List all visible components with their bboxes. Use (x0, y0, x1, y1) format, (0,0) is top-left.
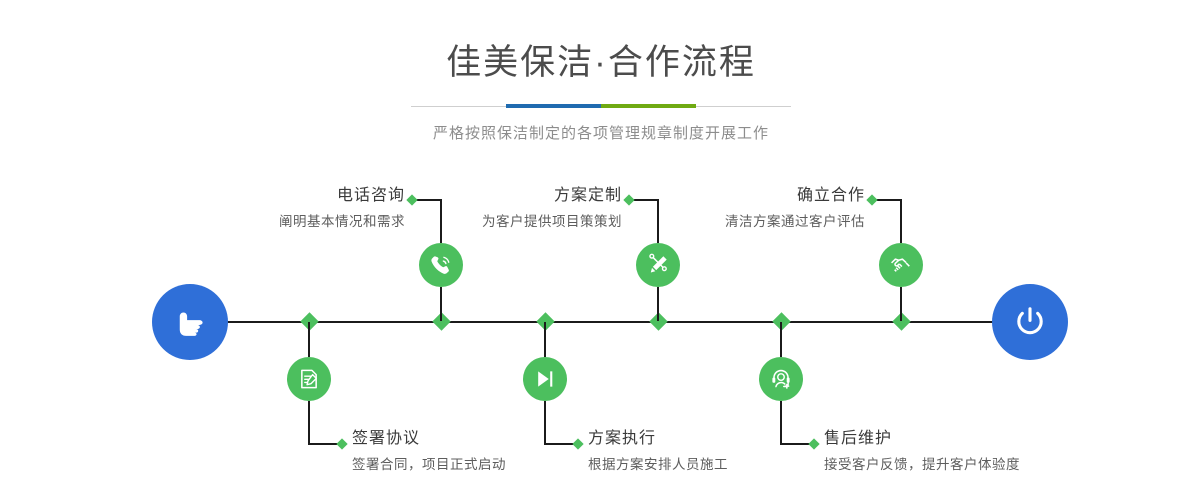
power-icon (1008, 300, 1052, 344)
timeline-end-badge (992, 284, 1068, 360)
connector-vline-4b (544, 401, 546, 445)
step-desc-2: 签署合同，项目正式启动 (352, 447, 602, 472)
connector-hline-3 (632, 199, 658, 201)
step-desc-4: 根据方案安排人员施工 (588, 447, 838, 472)
connector-tip-3 (623, 194, 634, 205)
handshake-icon (888, 252, 914, 278)
connector-hline-5 (875, 199, 901, 201)
divider-green-segment (601, 104, 696, 108)
connector-tip-2 (336, 438, 347, 449)
divider-blue-segment (506, 104, 601, 108)
step-node-4[interactable] (523, 357, 567, 401)
connector-vline-1 (440, 199, 442, 243)
connector-vline-6 (780, 322, 782, 357)
timeline-start-badge (152, 284, 228, 360)
headset-support-icon (768, 366, 794, 392)
step-title-6: 售后维护 (824, 431, 1084, 447)
header: 佳美保洁·合作流程 严格按照保洁制定的各项管理规章制度开展工作 (0, 0, 1202, 143)
connector-tip-5 (866, 194, 877, 205)
connector-vline-2 (308, 322, 310, 357)
step-desc-3: 为客户提供项目策策划 (450, 204, 622, 229)
step-desc-1: 阐明基本情况和需求 (240, 204, 405, 229)
step-node-2[interactable] (287, 357, 331, 401)
pointing-hand-icon (169, 301, 211, 343)
step-title-5: 确立合作 (693, 188, 865, 204)
step-title-3: 方案定制 (450, 188, 622, 204)
phone-call-icon (428, 252, 454, 278)
title-divider (411, 104, 791, 109)
step-node-3[interactable] (636, 243, 680, 287)
connector-hline-1 (415, 199, 441, 201)
connector-vline-5b (900, 287, 902, 321)
step-desc-5: 清洁方案通过客户评估 (693, 204, 865, 229)
connector-vline-3b (657, 287, 659, 321)
step-label-4: 方案执行 根据方案安排人员施工 (588, 431, 838, 472)
step-label-1: 电话咨询 阐明基本情况和需求 (240, 188, 405, 229)
step-title-1: 电话咨询 (240, 188, 405, 204)
step-node-5[interactable] (879, 243, 923, 287)
step-node-1[interactable] (419, 243, 463, 287)
connector-vline-2b (308, 401, 310, 445)
flow-chart-canvas: 佳美保洁·合作流程 严格按照保洁制定的各项管理规章制度开展工作 (0, 0, 1202, 502)
step-label-3: 方案定制 为客户提供项目策策划 (450, 188, 622, 229)
step-label-2: 签署协议 签署合同，项目正式启动 (352, 431, 602, 472)
document-edit-icon (296, 366, 322, 392)
connector-vline-3 (657, 199, 659, 243)
step-label-5: 确立合作 清洁方案通过客户评估 (693, 188, 865, 229)
step-desc-6: 接受客户反馈，提升客户体验度 (824, 447, 1084, 472)
connector-vline-6b (780, 401, 782, 445)
page-title: 佳美保洁·合作流程 (0, 0, 1202, 80)
connector-tip-1 (406, 194, 417, 205)
play-execute-icon (532, 366, 558, 392)
connector-vline-1b (440, 287, 442, 321)
step-node-6[interactable] (759, 357, 803, 401)
connector-vline-5 (900, 199, 902, 243)
pencil-compass-icon (645, 252, 671, 278)
timeline-axis (225, 321, 1000, 323)
step-label-6: 售后维护 接受客户反馈，提升客户体验度 (824, 431, 1084, 472)
connector-vline-4 (544, 322, 546, 357)
page-subtitle: 严格按照保洁制定的各项管理规章制度开展工作 (0, 109, 1202, 143)
